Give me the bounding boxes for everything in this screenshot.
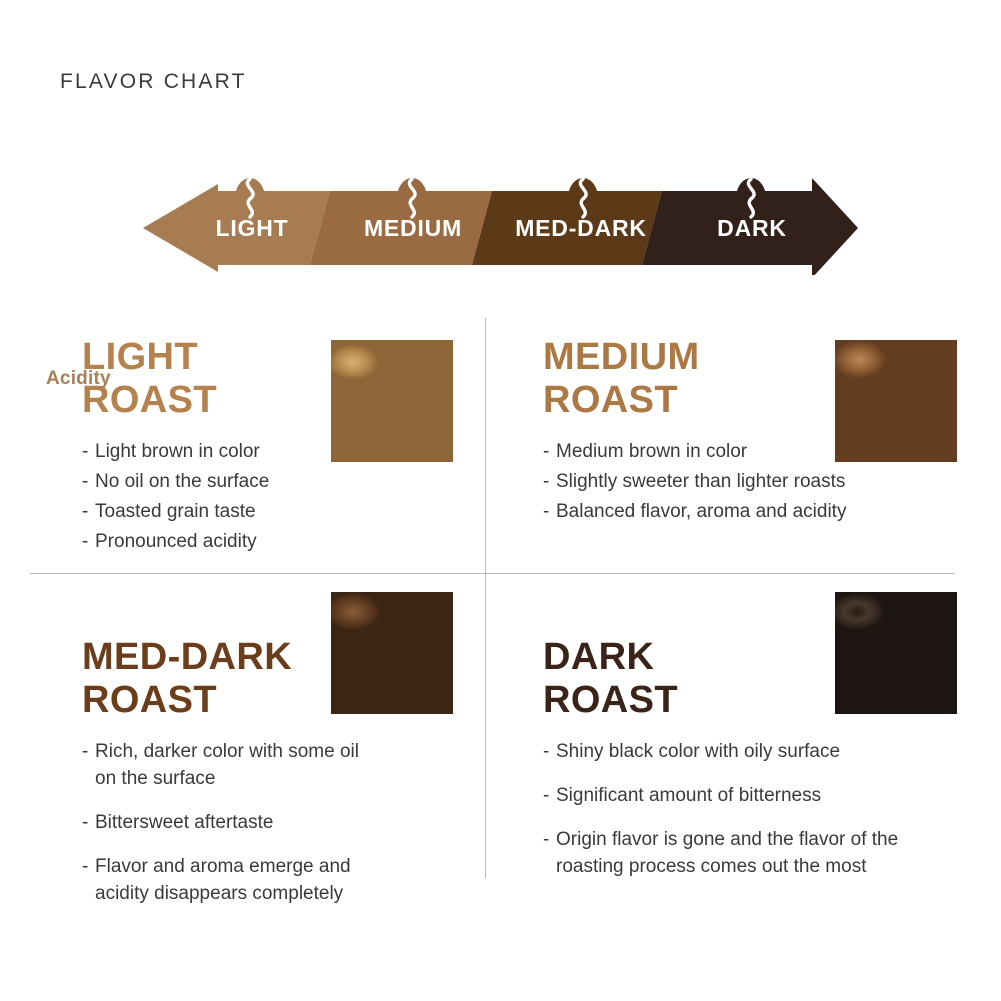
roast-scale-graphic: LIGHT MEDIUM MED-DARK DARK bbox=[0, 160, 1001, 275]
bullet-text: Rich, darker color with some oil on the … bbox=[95, 739, 382, 793]
dark-roast-beans-photo bbox=[835, 592, 957, 714]
bean-texture bbox=[835, 592, 957, 714]
bean-texture bbox=[331, 592, 453, 714]
bullet-dash: - bbox=[82, 529, 95, 556]
bean-texture bbox=[331, 340, 453, 462]
list-item: - Pronounced acidity bbox=[82, 529, 412, 556]
bullet-dash: - bbox=[82, 854, 95, 908]
bullet-text: Shiny black color with oily surface bbox=[556, 739, 933, 766]
light-roast-beans-photo bbox=[331, 340, 453, 462]
med-dark-roast-beans-photo bbox=[331, 592, 453, 714]
scale-segment-label-med-dark: MED-DARK bbox=[515, 215, 647, 241]
list-item: - Balanced flavor, aroma and acidity bbox=[543, 499, 943, 526]
bullet-text: Toasted grain taste bbox=[95, 499, 412, 526]
bullet-dash: - bbox=[82, 439, 95, 466]
bullet-dash: - bbox=[543, 499, 556, 526]
divider-horizontal bbox=[30, 573, 955, 574]
bullet-dash: - bbox=[82, 469, 95, 496]
bullet-dash: - bbox=[543, 739, 556, 766]
bullet-dash: - bbox=[82, 739, 95, 793]
list-item: - Shiny black color with oily surface bbox=[543, 739, 933, 766]
list-item: - Significant amount of bitterness bbox=[543, 783, 933, 810]
bullet-text: Slightly sweeter than lighter roasts bbox=[556, 469, 943, 496]
bullet-text: Significant amount of bitterness bbox=[556, 783, 933, 810]
bean-texture bbox=[835, 340, 957, 462]
bullet-text: No oil on the surface bbox=[95, 469, 412, 496]
bullet-list-med-dark-roast: - Rich, darker color with some oil on th… bbox=[82, 739, 382, 908]
list-item: - No oil on the surface bbox=[82, 469, 412, 496]
scale-arrow-left bbox=[143, 184, 218, 272]
coffee-bean-icon-dark bbox=[736, 178, 766, 218]
page-title: FLAVOR CHART bbox=[60, 70, 247, 94]
bullet-dash: - bbox=[543, 827, 556, 881]
list-item: - Rich, darker color with some oil on th… bbox=[82, 739, 382, 793]
roast-scale: Acidity Bitterness LIGHT MEDIUM MED-DARK… bbox=[0, 160, 1001, 275]
list-item: - Toasted grain taste bbox=[82, 499, 412, 526]
scale-segment-label-light: LIGHT bbox=[216, 215, 289, 241]
list-item: - Bittersweet aftertaste bbox=[82, 810, 382, 837]
bullet-text: Flavor and aroma emerge and acidity disa… bbox=[95, 854, 382, 908]
scale-segment-label-dark: DARK bbox=[717, 215, 787, 241]
coffee-bean-icon-med-dark bbox=[568, 178, 598, 218]
medium-roast-beans-photo bbox=[835, 340, 957, 462]
bullet-list-dark-roast: - Shiny black color with oily surface - … bbox=[543, 739, 933, 881]
bullet-text: Balanced flavor, aroma and acidity bbox=[556, 499, 943, 526]
divider-vertical bbox=[485, 318, 486, 878]
bullet-dash: - bbox=[543, 469, 556, 496]
bullet-text: Pronounced acidity bbox=[95, 529, 412, 556]
bullet-dash: - bbox=[82, 499, 95, 526]
bullet-dash: - bbox=[82, 810, 95, 837]
coffee-bean-icon-light bbox=[235, 178, 265, 218]
bullet-dash: - bbox=[543, 783, 556, 810]
list-item: - Slightly sweeter than lighter roasts bbox=[543, 469, 943, 496]
bullet-text: Origin flavor is gone and the flavor of … bbox=[556, 827, 933, 881]
bullet-text: Bittersweet aftertaste bbox=[95, 810, 382, 837]
list-item: - Flavor and aroma emerge and acidity di… bbox=[82, 854, 382, 908]
scale-segment-label-medium: MEDIUM bbox=[364, 215, 462, 241]
bullet-dash: - bbox=[543, 439, 556, 466]
coffee-bean-icon-medium bbox=[397, 178, 427, 218]
list-item: - Origin flavor is gone and the flavor o… bbox=[543, 827, 933, 881]
